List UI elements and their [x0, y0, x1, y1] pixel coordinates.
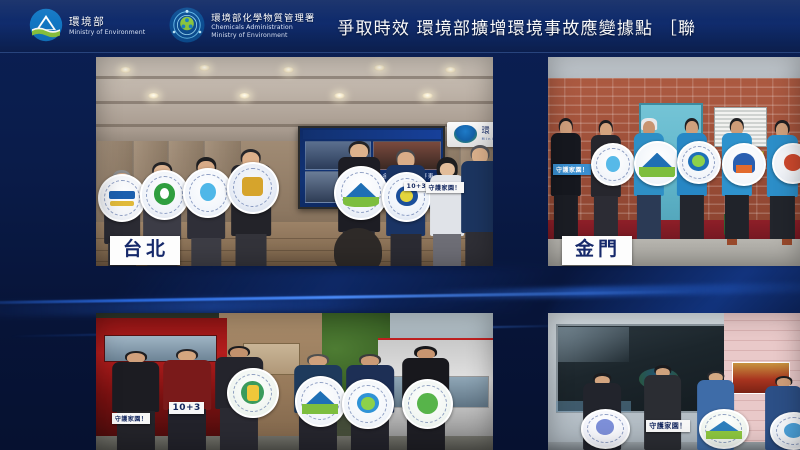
foreground-audience-head [334, 228, 382, 266]
emblem-disc [699, 409, 748, 449]
photo-fire-station-site: 守護家園！ 10+3 [96, 313, 493, 450]
photo-caption-kinmen: 金門 [562, 236, 632, 265]
chemicals-administration-wordmark: 環境部化學物質管理署 Chemicals Administration Mini… [211, 14, 315, 40]
emblem-disc [98, 174, 146, 222]
person [429, 157, 465, 266]
emblem-disc [227, 368, 279, 419]
emblem-disc [183, 168, 233, 218]
emblem-disc [227, 162, 279, 214]
broadcast-slide: 環境部 Ministry of Environment [0, 0, 800, 450]
person [551, 118, 581, 239]
placard-slogan: 守護家園！ [426, 182, 465, 193]
person [112, 351, 160, 450]
background-streak-primary [0, 290, 700, 305]
emblem-disc [342, 379, 394, 430]
logo-ministry-of-environment: 環境部 Ministry of Environment [29, 8, 145, 46]
background-wedge-left [109, 268, 551, 314]
logo-zh-text: 環境部 [69, 17, 145, 28]
person [644, 365, 682, 450]
logo-zh-text: 環境部化學物質管理署 [211, 14, 315, 23]
emblem-disc [295, 376, 347, 427]
person [163, 349, 211, 450]
logo-en-subtext: Ministry of Environment [211, 33, 315, 39]
photo-building-entrance-site: 守護家園！ [548, 313, 800, 450]
chemicals-administration-emblem-icon [169, 7, 205, 47]
header-bar: 環境部 Ministry of Environment [0, 0, 800, 53]
person [461, 145, 493, 266]
wall-signboard: 環境部 Ministry of Environment [447, 122, 493, 147]
background-streak-glow-right [420, 282, 800, 301]
placard-slogan: 守護家園！ [112, 413, 151, 424]
ministry-of-environment-wordmark: 環境部 Ministry of Environment [69, 17, 145, 36]
headline-title: 爭取時效 環境部擴增環境事故應變據點 ［聯 [337, 14, 696, 39]
photo-caption-taipei: 台北 [110, 236, 180, 265]
photo-taipei-press-conference: 金門・花蓮・屏東三據點成立 環境部 Ministry of Environmen… [96, 57, 493, 266]
ministry-of-environment-emblem-icon [29, 8, 63, 46]
signboard-zh: 環境部 [482, 125, 493, 136]
emblem-disc [334, 166, 388, 220]
logo-en-text: Ministry of Environment [69, 30, 145, 36]
placard-10-plus-3: 10+3 [169, 402, 203, 414]
emblem-disc [634, 141, 681, 187]
emblem-disc [140, 170, 190, 220]
placard-slogan: 守護家園！ [553, 164, 592, 175]
emblem-disc [677, 141, 721, 185]
logo-chemicals-administration: 環境部化學物質管理署 Chemicals Administration Mini… [169, 7, 315, 47]
logo-en-text: Chemicals Administration [211, 25, 315, 31]
placard-slogan: 守護家園！ [646, 420, 690, 432]
emblem-disc [591, 143, 635, 187]
signboard-en: Ministry of Environment [482, 137, 493, 141]
emblem-disc [581, 409, 630, 449]
photo-kinmen-site: 守護家園！ [548, 57, 800, 266]
header-divider [0, 52, 800, 53]
emblem-disc [382, 172, 432, 222]
